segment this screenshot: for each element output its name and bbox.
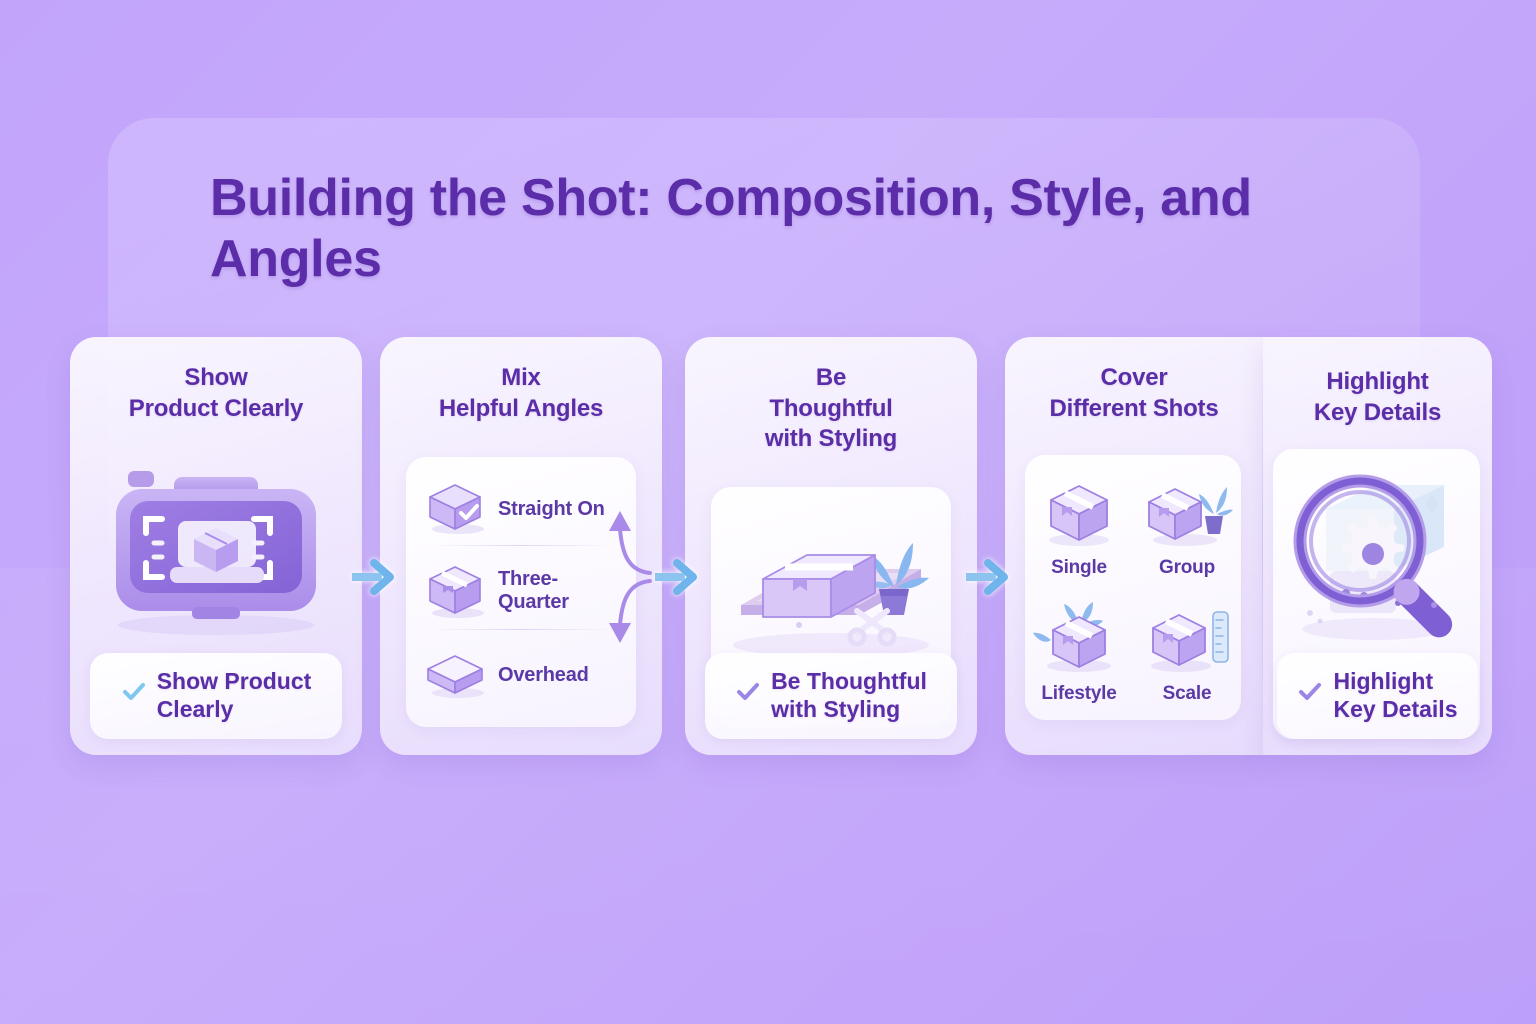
box-straight-on-check-icon — [420, 477, 490, 542]
card-title: Highlight Key Details — [1263, 337, 1492, 428]
footer-line2: Clearly — [157, 695, 312, 723]
box-three-quarter-icon — [420, 559, 490, 624]
group-box-plant-icon — [1141, 476, 1233, 555]
card-mix-helpful-angles[interactable]: Mix Helpful Angles — [380, 337, 662, 755]
camera-viewfinder-package-icon — [70, 447, 362, 637]
check-icon — [1297, 679, 1323, 710]
card-footer-label: Be Thoughtful with Styling — [771, 667, 927, 723]
grid-cell-label: Single — [1051, 557, 1107, 579]
grid-cell[interactable]: Single — [1025, 461, 1133, 594]
list-item[interactable]: Three-Quarter — [420, 555, 626, 627]
page-title: Building the Shot: Composition, Style, a… — [210, 168, 1330, 291]
shots-grid-panel: Single — [1025, 455, 1241, 720]
lifestyle-box-leaves-icon — [1033, 602, 1125, 681]
card-title-line3: with Styling — [699, 424, 963, 455]
arrow-right-icon — [966, 556, 1010, 598]
check-icon — [121, 679, 147, 710]
grid-cell-label: Scale — [1163, 683, 1212, 705]
footer-line2: with Styling — [771, 695, 927, 723]
card-title-line1: Cover — [1019, 363, 1249, 394]
arrow-right-icon — [655, 556, 699, 598]
list-item[interactable]: Straight On — [420, 473, 626, 545]
card-title-line1: Show — [84, 363, 348, 394]
footer-line1: Be Thoughtful — [771, 667, 927, 695]
card-title-line2: Different Shots — [1019, 394, 1249, 425]
divider — [430, 545, 612, 546]
grid-cell[interactable]: Lifestyle — [1025, 588, 1133, 721]
card-be-thoughtful-with-styling[interactable]: Be Thoughtful with Styling — [685, 337, 977, 755]
card-title-line1: Mix — [394, 363, 648, 394]
card-footer-label: Show Product Clearly — [157, 667, 312, 723]
single-box-icon — [1037, 476, 1121, 555]
shots-grid: Single — [1025, 455, 1241, 720]
scale-box-ruler-icon — [1141, 602, 1233, 681]
card-cover-different-shots[interactable]: Cover Different Shots — [1005, 337, 1263, 755]
card-title: Be Thoughtful with Styling — [685, 337, 977, 455]
grid-cell-label: Lifestyle — [1041, 683, 1116, 705]
box-overhead-icon — [420, 643, 490, 708]
card-title-line2: Key Details — [1277, 398, 1478, 429]
card-highlight-key-details[interactable]: Highlight Key Details — [1263, 337, 1492, 755]
footer-line1: Show Product — [157, 667, 312, 695]
list-item-label: Straight On — [498, 498, 605, 521]
card-footer: Be Thoughtful with Styling — [705, 653, 957, 739]
card-title: Cover Different Shots — [1005, 337, 1263, 424]
divider — [430, 629, 612, 630]
grid-cell[interactable]: Scale — [1133, 588, 1241, 721]
grid-cell[interactable]: Group — [1133, 461, 1241, 594]
card-title-line1: Be — [699, 363, 963, 394]
card-title: Mix Helpful Angles — [380, 337, 662, 424]
card-show-product-clearly[interactable]: Show Product Clearly — [70, 337, 362, 755]
cards-row: Show Product Clearly — [0, 337, 1536, 755]
card-footer-label: Highlight Key Details — [1333, 667, 1457, 723]
card-title-line1: Highlight — [1277, 367, 1478, 398]
card-footer: Show Product Clearly — [90, 653, 342, 739]
arrow-right-icon — [352, 556, 396, 598]
branch-arrows-icon — [598, 477, 662, 672]
grid-cell-label: Group — [1159, 557, 1215, 579]
check-icon — [735, 679, 761, 710]
list-item-label: Overhead — [498, 664, 589, 687]
infographic-stage: Building the Shot: Composition, Style, a… — [0, 0, 1536, 1024]
footer-line1: Highlight — [1333, 667, 1457, 695]
list-item[interactable]: Overhead — [420, 639, 626, 711]
card-footer: Highlight Key Details — [1277, 653, 1478, 739]
card-title-line2: Thoughtful — [699, 394, 963, 425]
magnifier-box-gear-icon — [1273, 453, 1480, 653]
card-title-line2: Product Clearly — [84, 394, 348, 425]
box-tray-plant-scissors-icon — [711, 493, 951, 663]
card-title: Show Product Clearly — [70, 337, 362, 424]
card-title-line2: Helpful Angles — [394, 394, 648, 425]
footer-line2: Key Details — [1333, 695, 1457, 723]
